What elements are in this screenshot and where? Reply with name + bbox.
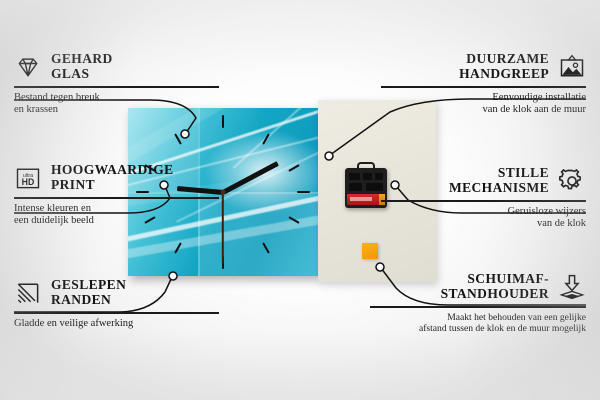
feature-title-line1: STILLE — [449, 166, 549, 181]
feature-title-line1: GEHARD — [51, 52, 113, 67]
feature-desc-line1: Intense kleuren en — [14, 203, 219, 215]
feature-gehard-glas: GEHARD GLAS Bestand tegen breuk en krass… — [14, 52, 219, 116]
clock-second-hand — [222, 192, 224, 264]
feature-desc-line1: Gladde en veilige afwerking — [14, 318, 219, 330]
feature-title-line2: STANDHOUDER — [441, 287, 549, 302]
feature-title-line2: RANDEN — [51, 293, 126, 308]
feature-divider — [370, 306, 586, 308]
feature-title-line2: HANDGREEP — [459, 67, 549, 82]
feature-desc-line2: en krassen — [14, 104, 219, 116]
feature-desc-line1: Eenvoudige installatie — [381, 92, 586, 104]
feature-title-line2: GLAS — [51, 67, 113, 82]
ultra-hd-icon-bottom-text: HD — [22, 177, 35, 187]
feature-desc-line1: Bestand tegen breuk — [14, 92, 219, 104]
feature-desc-line2: van de klok — [381, 218, 586, 230]
battery — [347, 194, 385, 205]
feature-desc-line2: een duidelijk beeld — [14, 215, 219, 227]
hanger-lug-icon — [357, 162, 375, 172]
clock-tick — [222, 115, 224, 128]
feature-geslepen-randen: GESLEPEN RANDEN Gladde en veilige afwerk… — [14, 278, 219, 330]
feature-title-line2: MECHANISME — [449, 181, 549, 196]
feature-divider — [14, 86, 219, 88]
feature-desc-line1: Geruisloze wijzers — [381, 206, 586, 218]
ultra-hd-icon: ultra HD — [14, 164, 42, 192]
foam-spacer-pad — [362, 243, 378, 259]
clock-hub — [221, 190, 226, 195]
feature-schuimafstandhouder: SCHUIMAF- STANDHOUDER Maakt het behouden… — [370, 272, 586, 334]
clock-tick — [297, 191, 310, 193]
feature-title-line1: HOOGWAARDIGE — [51, 163, 174, 178]
feature-divider — [381, 200, 586, 202]
feature-duurzame-handgreep: DUURZAME HANDGREEP Eenvoudige installati… — [381, 52, 586, 116]
infographic-canvas: GEHARD GLAS Bestand tegen breuk en krass… — [0, 0, 600, 400]
feature-title-line1: SCHUIMAF- — [441, 272, 549, 287]
feature-divider — [14, 197, 219, 199]
feature-desc-line2: afstand tussen de klok en de muur mogeli… — [370, 323, 586, 334]
picture-frame-hanger-icon — [558, 53, 586, 81]
feature-divider — [14, 312, 219, 314]
feature-title-line1: GESLEPEN — [51, 278, 126, 293]
feature-title-line2: PRINT — [51, 178, 174, 193]
diamond-icon — [14, 53, 42, 81]
gear-icon — [558, 167, 586, 195]
feature-desc-line1: Maakt het behouden van een gelijke — [370, 312, 586, 323]
feature-title-line1: DUURZAME — [459, 52, 549, 67]
feature-hoogwaardige-print: ultra HD HOOGWAARDIGE PRINT Intense kleu… — [14, 163, 219, 227]
feature-divider — [381, 86, 586, 88]
beveled-edges-icon — [14, 279, 42, 307]
feature-desc-line2: van de klok aan de muur — [381, 104, 586, 116]
foam-spacer-icon — [558, 273, 586, 301]
feature-stille-mechanisme: STILLE MECHANISME Geruisloze wijzers van… — [381, 166, 586, 230]
